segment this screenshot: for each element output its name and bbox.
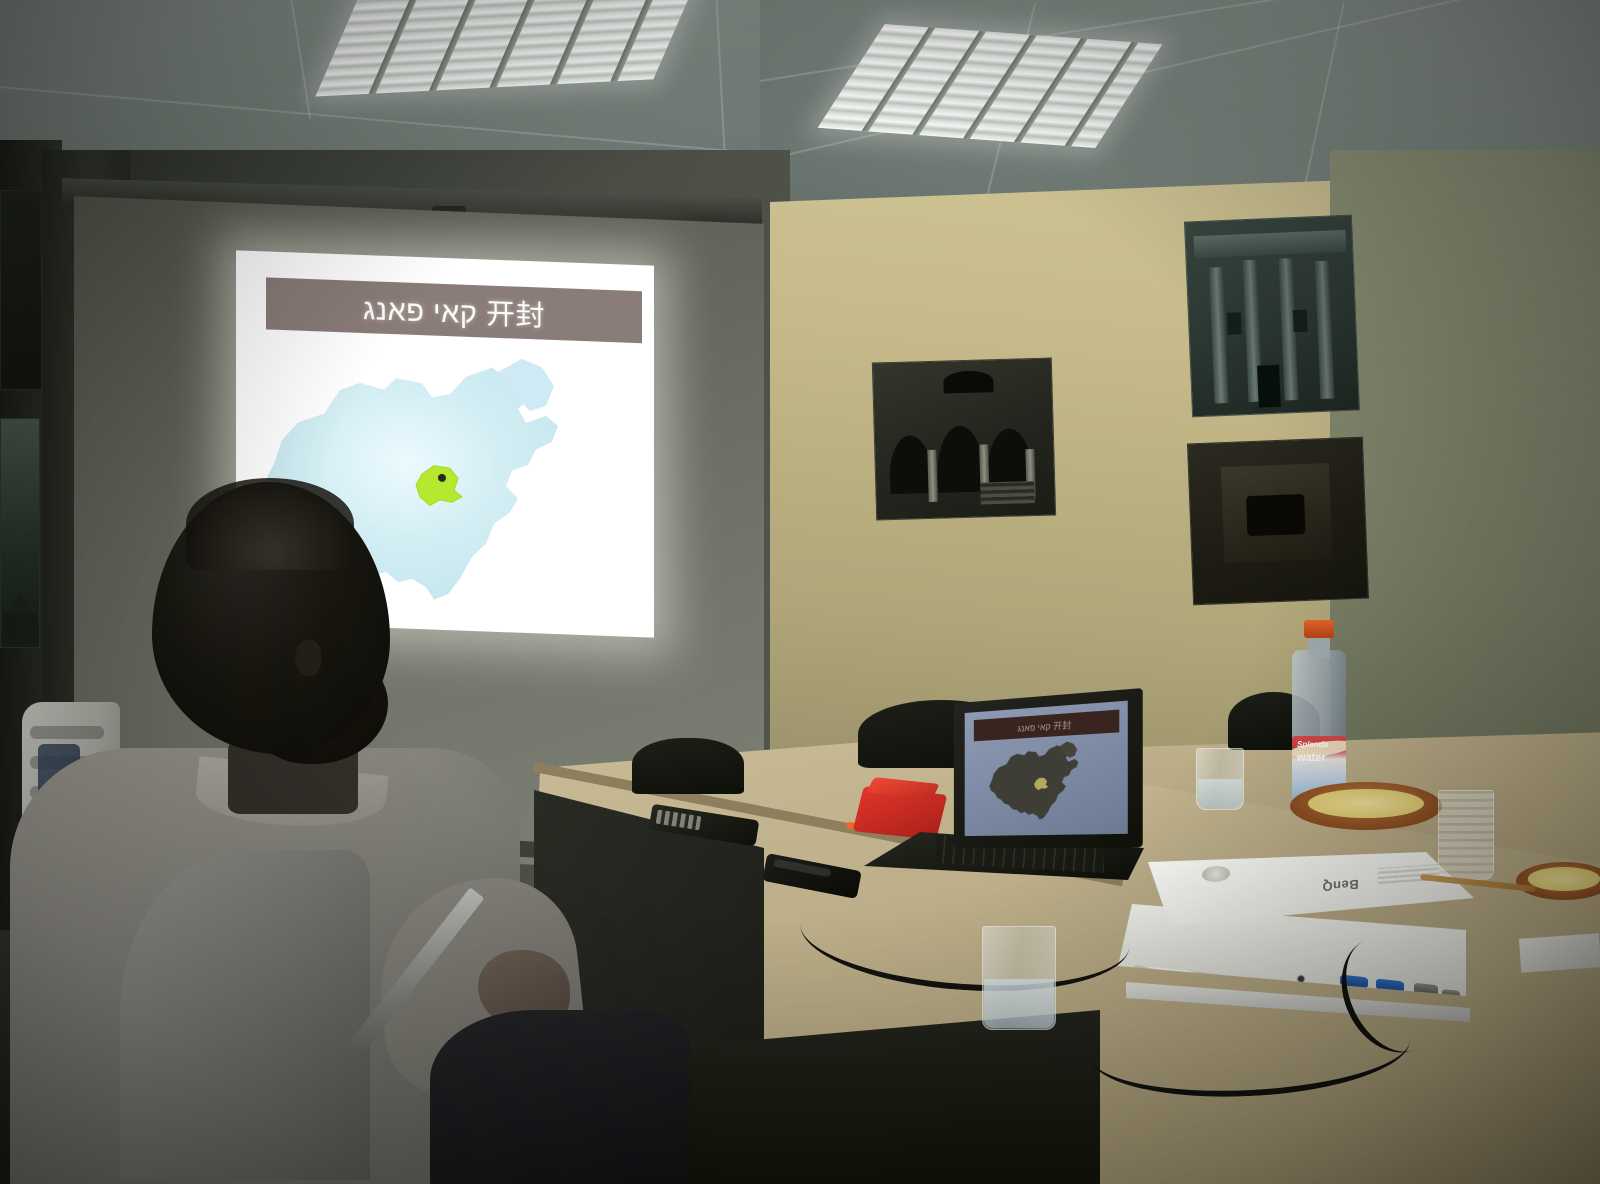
ark-shape [1246, 494, 1305, 536]
projector-lens [1202, 865, 1230, 882]
person-hair [186, 478, 354, 570]
slide-title: 开封 קאי פאנג [363, 286, 545, 335]
slide-title-bar: 开封 קאי פאנג [266, 277, 642, 343]
bottle-brand: Splenda [1297, 740, 1328, 749]
water-cup[interactable] [982, 926, 1056, 1030]
laptop[interactable]: 开封 קאי פאנג [840, 696, 1148, 880]
person-shirt-fold [120, 850, 370, 1180]
snack-bowl[interactable] [1290, 782, 1442, 830]
water-cup-far[interactable] [1196, 748, 1244, 810]
picture-caption [1194, 592, 1368, 599]
ceiling-tile-seam [291, 0, 312, 119]
cup-water-level [1198, 779, 1242, 808]
picture-facade [1184, 215, 1360, 418]
laptop-screen[interactable]: 开封 קאי פאנג [965, 701, 1128, 836]
window-shape [1227, 312, 1242, 335]
cup-stack[interactable] [1438, 790, 1494, 880]
potato-chips [1528, 867, 1600, 891]
laptop-slide-title-bar: 开封 קאי פאנג [974, 710, 1119, 742]
office-chair-far-left[interactable] [632, 738, 744, 794]
picture-left-lower [0, 418, 40, 648]
bottle-cap[interactable] [1304, 620, 1334, 638]
projector-audio-jack[interactable] [1296, 974, 1306, 984]
cornice-shape [1194, 230, 1347, 258]
cup-water-level [984, 979, 1054, 1028]
bottle-product: water [1297, 752, 1326, 764]
picture-interior [1187, 437, 1369, 606]
picture-caption [877, 508, 1055, 513]
person-ear [295, 640, 321, 676]
laptop-slide-title: 开封 קאי פאנג [1017, 718, 1071, 735]
person-lap [430, 1010, 690, 1184]
picture-left-upper [0, 190, 42, 390]
picture-colonnade [872, 358, 1056, 521]
projector-brand-label: BenQ [1322, 877, 1359, 895]
ceiling-tile-seam [0, 86, 757, 154]
remote-buttons[interactable] [656, 810, 702, 831]
window-shape [1293, 310, 1308, 333]
potato-chips [1308, 789, 1424, 819]
building-shape [3, 613, 37, 647]
conference-room-scene: 开封 קאי פאנג [0, 0, 1600, 1184]
laptop-slide-map [978, 737, 1113, 830]
projector-usb-port[interactable] [1442, 989, 1460, 1002]
doorway-shape [1257, 365, 1281, 408]
laptop-lid: 开封 קאי פאנג [954, 688, 1143, 849]
laptop-china-map-svg [978, 737, 1113, 830]
ceiling-tile-seam [716, 0, 727, 170]
foliage-shape [943, 370, 994, 393]
napkins[interactable] [1519, 933, 1600, 972]
steps-shape [980, 481, 1035, 504]
projector-top-face: BenQ [1126, 852, 1474, 926]
